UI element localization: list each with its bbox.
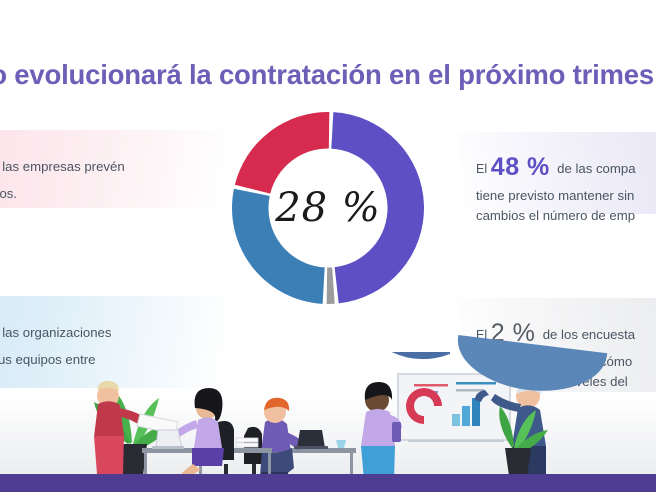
donut-chart: 28 % xyxy=(228,108,428,308)
callout-right-top-number: 48 % xyxy=(491,153,550,181)
page-title: mo evolucionará la contratación en el pr… xyxy=(0,58,656,91)
callout-right-top-text1: de las compa xyxy=(557,161,635,176)
donut-center-value: 28 % xyxy=(228,108,428,308)
infographic-canvas: mo evolucionará la contratación en el pr… xyxy=(0,0,656,492)
purple-floor-bar xyxy=(0,474,656,492)
callout-card-reduce: 0 % de las empresas prevén ir sus equipo… xyxy=(0,130,224,208)
callout-card-no-change: El 48 % de las compa tiene previsto mant… xyxy=(458,132,656,214)
callout-right-top-lead: El xyxy=(476,162,487,176)
office-illustration xyxy=(0,352,656,492)
callout-left-top-line1: 0 % de las empresas prevén xyxy=(0,146,210,184)
callout-left-bottom-line1: 0 % de las organizaciones xyxy=(0,312,210,350)
callout-left-top-line2: ir sus equipos. xyxy=(0,184,210,204)
callout-right-top-line2: tiene previsto mantener sin xyxy=(476,186,656,206)
callout-right-bottom-text1: de los encuesta xyxy=(543,327,635,342)
callout-right-top-line3: cambios el número de emp xyxy=(476,206,656,226)
blue-accent-left-icon xyxy=(378,352,450,359)
callout-right-top-line1: El 48 % de las compa xyxy=(476,148,656,186)
callout-left-top-text1: de las empresas prevén xyxy=(0,159,125,174)
callout-left-bottom-text1: de las organizaciones xyxy=(0,325,111,340)
